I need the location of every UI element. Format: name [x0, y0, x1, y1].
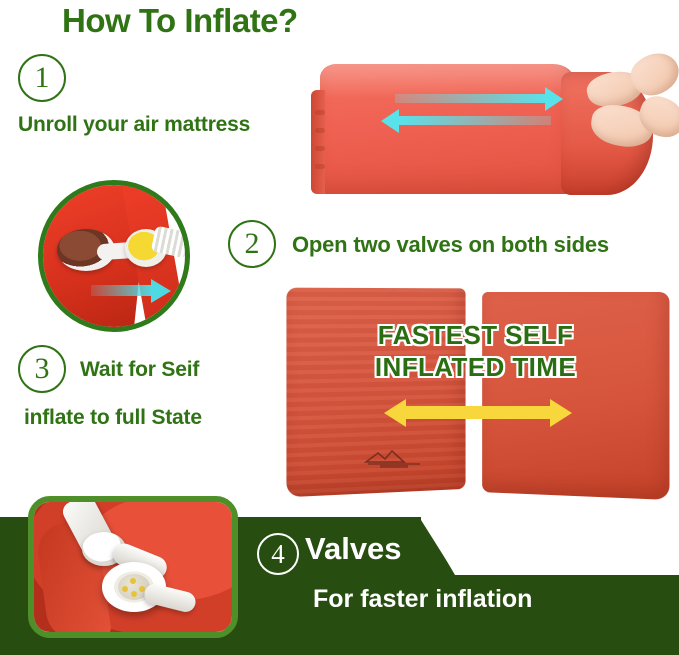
valve-pip: [130, 578, 136, 584]
yellow-arrow-head-right-icon: [550, 399, 572, 427]
valve-pip: [131, 591, 137, 597]
yellow-arrow-shaft: [404, 406, 552, 419]
self-inflating-pads-illustration: FASTEST SELF INFLATED TIME: [272, 278, 679, 506]
mattress-fold: [315, 146, 325, 151]
mattress-fold: [315, 164, 325, 169]
step-3-label-line1: Wait for Seif: [80, 358, 199, 382]
infographic-page: How To Inflate? 1 Unroll your air mattre…: [0, 0, 679, 655]
cyan-arrow-shaft: [91, 285, 153, 296]
arrow-head-right-icon: [545, 87, 563, 111]
valve-closeup-illustration: [38, 180, 190, 332]
pads-overlay-line1: FASTEST SELF: [272, 320, 679, 352]
step-3-label-line2: inflate to full State: [24, 406, 202, 430]
yellow-arrow-head-left-icon: [384, 399, 406, 427]
step-4-label: Valves: [305, 531, 402, 567]
pads-overlay-line2: INFLATED TIME: [272, 352, 679, 384]
mountain-brand-logo-icon: [364, 448, 424, 470]
cyan-arrow-head-icon: [151, 279, 171, 303]
cyan-double-arrow: [377, 90, 567, 134]
valve-photo-card: [28, 496, 238, 638]
pads-overlay-text: FASTEST SELF INFLATED TIME: [272, 320, 679, 383]
step-1-label: Unroll your air mattress: [18, 113, 250, 137]
step-4-sublabel: For faster inflation: [313, 585, 532, 614]
rolled-mattress-illustration: [305, 50, 679, 205]
banner-notch: [421, 517, 679, 575]
arrow-shaft-left: [399, 116, 551, 125]
valve-pip: [122, 586, 128, 592]
page-title: How To Inflate?: [62, 2, 298, 40]
arrow-shaft-right: [395, 94, 547, 103]
arrow-head-left-icon: [381, 109, 399, 133]
step-number-4: 4: [257, 533, 299, 575]
step-number-1: 1: [18, 54, 66, 102]
step-number-2: 2: [228, 220, 276, 268]
step-number-3: 3: [18, 345, 66, 393]
step-2-label: Open two valves on both sides: [292, 232, 609, 258]
mattress-fold: [315, 110, 325, 115]
mattress-fold: [315, 128, 325, 133]
